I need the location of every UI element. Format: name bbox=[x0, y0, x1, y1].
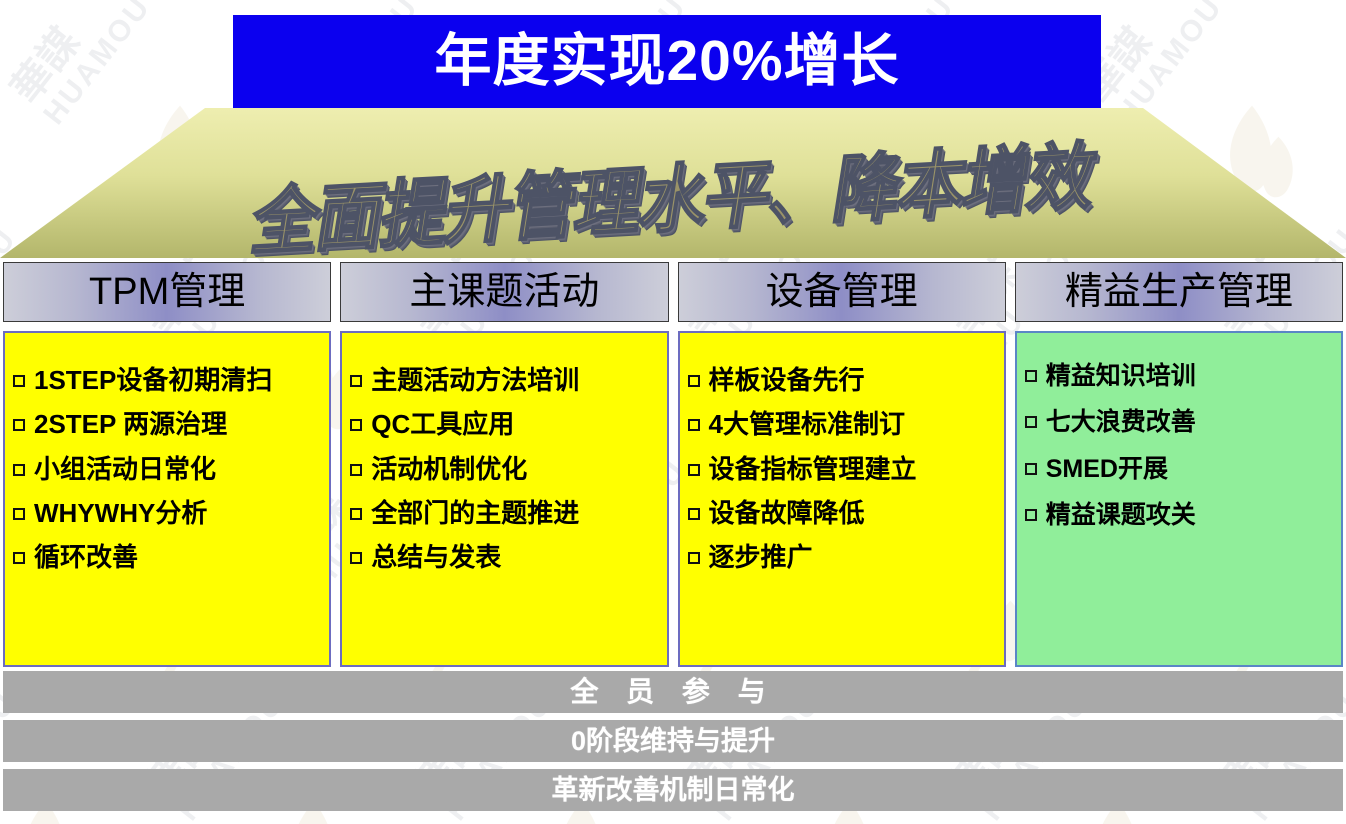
list-item[interactable]: SMED开展 bbox=[1025, 456, 1335, 482]
list-item-label: 小组活动日常化 bbox=[34, 456, 216, 483]
list-item[interactable]: 全部门的主题推进 bbox=[350, 500, 660, 527]
list-item-label: 设备故障降低 bbox=[709, 500, 865, 527]
pillar-body-lean: 精益知识培训 七大浪费改善 SMED开展 精益课题攻关 bbox=[1015, 331, 1343, 667]
checkbox-icon bbox=[1025, 463, 1037, 475]
pillar-body-tpm: 1STEP设备初期清扫 2STEP 两源治理 小组活动日常化 WHYWHY分析 bbox=[3, 331, 331, 667]
list-item-label: 设备指标管理建立 bbox=[709, 456, 917, 483]
pillar-header-label: 设备管理 bbox=[766, 273, 918, 311]
pillar-header-tpm[interactable]: TPM管理 bbox=[3, 262, 331, 322]
list-item[interactable]: 总结与发表 bbox=[350, 544, 660, 571]
pillar-header-main-topic[interactable]: 主课题活动 bbox=[340, 262, 668, 322]
foundation-bar-all-participate: 全 员 参 与 bbox=[3, 671, 1343, 713]
page-title: 年度实现20%增长 bbox=[434, 33, 899, 90]
list-item[interactable]: WHYWHY分析 bbox=[13, 500, 323, 527]
list-item-label: SMED开展 bbox=[1046, 456, 1168, 482]
checkbox-icon bbox=[688, 508, 700, 520]
title-banner: 年度实现20%增长 bbox=[233, 15, 1101, 108]
pillar-equipment: 设备管理 样板设备先行 4大管理标准制订 设备指标管理建立 设备故障降低 bbox=[678, 262, 1006, 667]
list-item[interactable]: QC工具应用 bbox=[350, 411, 660, 438]
foundation-bar-label: 革新改善机制日常化 bbox=[552, 777, 795, 804]
list-item-label: 4大管理标准制订 bbox=[709, 411, 905, 438]
pillar-header-label: 精益生产管理 bbox=[1065, 273, 1293, 311]
list-item-label: 循环改善 bbox=[34, 544, 138, 571]
foundation-bar-innovation: 革新改善机制日常化 bbox=[3, 769, 1343, 811]
list-item-label: 七大浪费改善 bbox=[1046, 409, 1196, 435]
checkbox-icon bbox=[1025, 370, 1037, 382]
foundation-bars: 全 员 参 与 0阶段维持与提升 革新改善机制日常化 bbox=[3, 671, 1343, 811]
foundation-bar-stage-maintain: 0阶段维持与提升 bbox=[3, 720, 1343, 762]
pillar-header-label: 主课题活动 bbox=[409, 273, 599, 311]
list-item-label: 逐步推广 bbox=[709, 544, 813, 571]
list-item[interactable]: 2STEP 两源治理 bbox=[13, 411, 323, 438]
list-item[interactable]: 精益课题攻关 bbox=[1025, 502, 1335, 528]
list-item-label: 活动机制优化 bbox=[371, 456, 527, 483]
pyramid-diagram: 全面提升管理水平、降本增效 年度实现20%增长 TPM管理 1STEP设备初期清… bbox=[0, 0, 1346, 824]
pillar-header-label: TPM管理 bbox=[89, 273, 245, 311]
list-item[interactable]: 1STEP设备初期清扫 bbox=[13, 367, 323, 394]
pillars-row: TPM管理 1STEP设备初期清扫 2STEP 两源治理 小组活动日常化 bbox=[3, 262, 1343, 667]
checkbox-icon bbox=[13, 464, 25, 476]
checkbox-icon bbox=[350, 464, 362, 476]
list-item-label: WHYWHY分析 bbox=[34, 500, 207, 527]
list-item[interactable]: 小组活动日常化 bbox=[13, 456, 323, 483]
pillar-tpm: TPM管理 1STEP设备初期清扫 2STEP 两源治理 小组活动日常化 bbox=[3, 262, 331, 667]
list-item-label: QC工具应用 bbox=[371, 411, 514, 438]
list-item-label: 1STEP设备初期清扫 bbox=[34, 367, 272, 394]
pillar-body-equipment: 样板设备先行 4大管理标准制订 设备指标管理建立 设备故障降低 逐步推广 bbox=[678, 331, 1006, 667]
list-item[interactable]: 主题活动方法培训 bbox=[350, 367, 660, 394]
checkbox-icon bbox=[1025, 416, 1037, 428]
checkbox-icon bbox=[688, 464, 700, 476]
checkbox-icon bbox=[688, 552, 700, 564]
pillar-body-main-topic: 主题活动方法培训 QC工具应用 活动机制优化 全部门的主题推进 总结与发表 bbox=[340, 331, 668, 667]
checkbox-icon bbox=[13, 552, 25, 564]
foundation-bar-label: 全 员 参 与 bbox=[570, 678, 775, 706]
pillar-main-topic: 主课题活动 主题活动方法培训 QC工具应用 活动机制优化 全部门的主题推进 bbox=[340, 262, 668, 667]
list-item[interactable]: 设备故障降低 bbox=[688, 500, 998, 527]
list-item-label: 全部门的主题推进 bbox=[371, 500, 579, 527]
list-item-label: 样板设备先行 bbox=[709, 367, 865, 394]
checkbox-icon bbox=[350, 419, 362, 431]
list-item[interactable]: 七大浪费改善 bbox=[1025, 409, 1335, 435]
pillar-header-equipment[interactable]: 设备管理 bbox=[678, 262, 1006, 322]
list-item-label: 总结与发表 bbox=[371, 544, 501, 571]
list-item[interactable]: 循环改善 bbox=[13, 544, 323, 571]
foundation-bar-label: 0阶段维持与提升 bbox=[571, 728, 775, 755]
checkbox-icon bbox=[13, 508, 25, 520]
checkbox-icon bbox=[688, 419, 700, 431]
checkbox-icon bbox=[13, 419, 25, 431]
checkbox-icon bbox=[350, 375, 362, 387]
list-item-label: 2STEP 两源治理 bbox=[34, 411, 227, 438]
pillar-header-lean[interactable]: 精益生产管理 bbox=[1015, 262, 1343, 322]
pillar-lean: 精益生产管理 精益知识培训 七大浪费改善 SMED开展 精益课题攻关 bbox=[1015, 262, 1343, 667]
roof-shape bbox=[0, 106, 1346, 260]
checkbox-icon bbox=[350, 552, 362, 564]
checkbox-icon bbox=[1025, 509, 1037, 521]
list-item-label: 精益知识培训 bbox=[1046, 363, 1196, 389]
list-item[interactable]: 设备指标管理建立 bbox=[688, 456, 998, 483]
list-item[interactable]: 样板设备先行 bbox=[688, 367, 998, 394]
list-item[interactable]: 活动机制优化 bbox=[350, 456, 660, 483]
list-item[interactable]: 4大管理标准制订 bbox=[688, 411, 998, 438]
checkbox-icon bbox=[13, 375, 25, 387]
list-item[interactable]: 精益知识培训 bbox=[1025, 363, 1335, 389]
checkbox-icon bbox=[350, 508, 362, 520]
list-item[interactable]: 逐步推广 bbox=[688, 544, 998, 571]
list-item-label: 主题活动方法培训 bbox=[371, 367, 579, 394]
list-item-label: 精益课题攻关 bbox=[1046, 502, 1196, 528]
checkbox-icon bbox=[688, 375, 700, 387]
